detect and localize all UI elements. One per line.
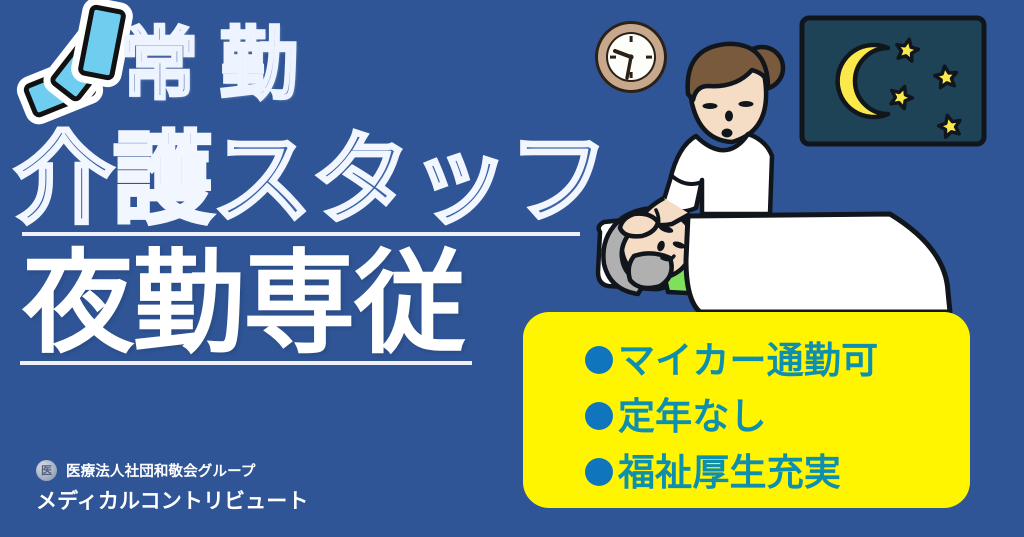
wall-clock-icon [595, 21, 667, 93]
perks-panel: マイカー通勤可 定年なし 福祉厚生充実 [523, 312, 970, 508]
recruitment-banner: 常勤 介護スタッフ 夜勤専従 [0, 0, 1024, 537]
headline-line-employment-type: 常勤 [120, 26, 320, 104]
headline-line-night-shift: 夜勤専従 [22, 246, 465, 362]
headline-line-role: 介護スタッフ [14, 128, 586, 232]
logo-brand-name: メディカルコントリビュート [36, 485, 316, 515]
night-window-icon [802, 18, 984, 144]
perk-label: マイカー通勤可 [618, 342, 878, 379]
perk-item: 定年なし [585, 390, 970, 442]
bullet-icon [585, 458, 613, 486]
headline-block: 常勤 介護スタッフ 夜勤専従 [0, 0, 600, 390]
care-scene-illustration [560, 0, 1024, 320]
medical-badge-icon [36, 460, 57, 481]
perk-label: 福祉厚生充実 [618, 454, 841, 491]
headline-underline-role [22, 232, 580, 236]
perk-label: 定年なし [618, 398, 767, 435]
logo-top-row: 医療法人社団和敬会グループ [36, 458, 316, 482]
perk-item: 福祉厚生充実 [585, 446, 970, 498]
perk-item: マイカー通勤可 [585, 334, 970, 386]
headline-underline-night-shift [20, 361, 472, 365]
bullet-icon [585, 402, 613, 430]
bullet-icon [585, 346, 613, 374]
headline-line-role-wrap: 介護スタッフ [14, 128, 586, 232]
logo-group-name: 医療法人社団和敬会グループ [66, 460, 256, 481]
logo-lockup: 医療法人社団和敬会グループ メディカルコントリビュート [36, 458, 316, 520]
